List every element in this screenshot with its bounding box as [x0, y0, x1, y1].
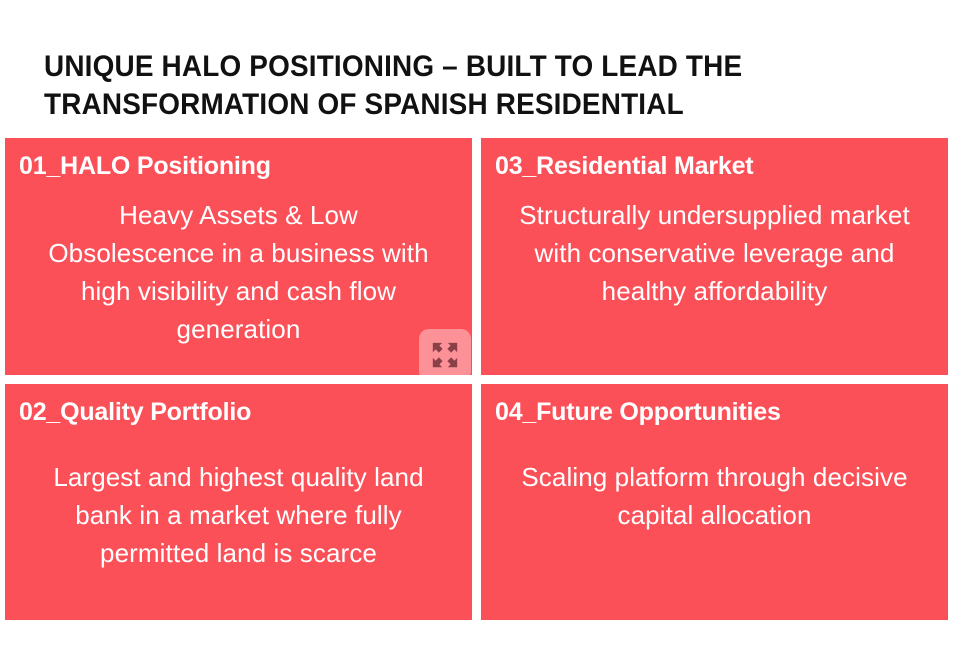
expand-arrows-icon — [430, 340, 460, 370]
quadrant-card-quality-portfolio[interactable]: 02_Quality Portfolio Largest and highest… — [5, 384, 472, 621]
quadrant-card-residential-market[interactable]: 03_Residential Market Structurally under… — [481, 138, 948, 375]
quadrant-heading: 03_Residential Market — [495, 150, 934, 182]
quadrant-heading: 01_HALO Positioning — [19, 150, 458, 182]
quadrant-heading: 04_Future Opportunities — [495, 396, 934, 428]
quadrant-body: Largest and highest quality land bank in… — [19, 458, 458, 572]
quadrant-body: Heavy Assets & Low Obsolescence in a bus… — [19, 196, 458, 348]
quadrant-card-future-opportunities[interactable]: 04_Future Opportunities Scaling platform… — [481, 384, 948, 621]
quadrant-heading: 02_Quality Portfolio — [19, 396, 458, 428]
page-title: Unique HALO Positioning – Built to Lead … — [44, 48, 788, 124]
expand-button[interactable] — [419, 329, 471, 381]
quadrant-body: Structurally undersupplied market with c… — [495, 196, 934, 310]
quadrant-body: Scaling platform through decisive capita… — [495, 458, 934, 534]
quadrant-grid: 01_HALO Positioning Heavy Assets & Low O… — [5, 138, 958, 620]
slide-canvas: Unique HALO Positioning – Built to Lead … — [0, 0, 975, 648]
quadrant-card-halo-positioning[interactable]: 01_HALO Positioning Heavy Assets & Low O… — [5, 138, 472, 375]
